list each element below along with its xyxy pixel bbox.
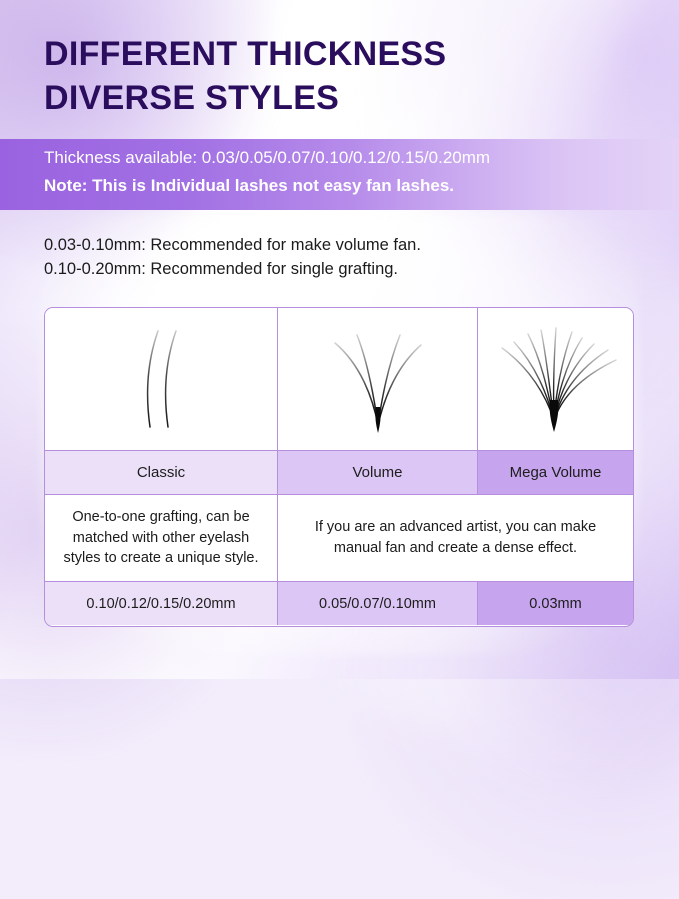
- banner-note-text: Note: This is Individual lashes not easy…: [44, 176, 454, 196]
- banner-thickness-text: Thickness available: 0.03/0.05/0.07/0.10…: [44, 148, 490, 168]
- style-label-volume: Volume: [278, 451, 478, 494]
- style-label-mega-volume: Mega Volume: [478, 451, 633, 494]
- table-row-descriptions: One-to-one grafting, can be matched with…: [45, 495, 633, 582]
- page-title-line-1: DIFFERENT THICKNESS: [44, 33, 644, 77]
- mega-volume-lash-cell: [478, 308, 633, 450]
- classic-lash-cell: [45, 308, 278, 450]
- thickness-mega-volume: 0.03mm: [478, 582, 633, 625]
- volume-lash-cell: [278, 308, 478, 450]
- classic-lash-icon: [106, 321, 216, 437]
- recommendation-line-1: 0.03-0.10mm: Recommended for make volume…: [44, 233, 421, 257]
- thickness-classic: 0.10/0.12/0.15/0.20mm: [45, 582, 278, 625]
- style-label-classic: Classic: [45, 451, 278, 494]
- table-row-thickness: 0.10/0.12/0.15/0.20mm 0.05/0.07/0.10mm 0…: [45, 582, 633, 625]
- lash-style-table: Classic Volume Mega Volume One-to-one gr…: [44, 307, 634, 627]
- page-title-line-2: DIVERSE STYLES: [44, 77, 644, 121]
- volume-fan-icon: [313, 321, 443, 437]
- description-classic: One-to-one grafting, can be matched with…: [45, 495, 278, 581]
- recommendation-block: 0.03-0.10mm: Recommended for make volume…: [44, 233, 421, 282]
- page-title: DIFFERENT THICKNESS DIVERSE STYLES: [44, 33, 644, 120]
- thickness-volume: 0.05/0.07/0.10mm: [278, 582, 478, 625]
- thickness-banner: Thickness available: 0.03/0.05/0.07/0.10…: [0, 139, 679, 210]
- mega-volume-fan-icon: [486, 320, 626, 438]
- description-volume-mega: If you are an advanced artist, you can m…: [278, 495, 633, 581]
- table-row-style-labels: Classic Volume Mega Volume: [45, 450, 633, 495]
- recommendation-line-2: 0.10-0.20mm: Recommended for single graf…: [44, 257, 421, 281]
- table-row-illustrations: [45, 308, 633, 450]
